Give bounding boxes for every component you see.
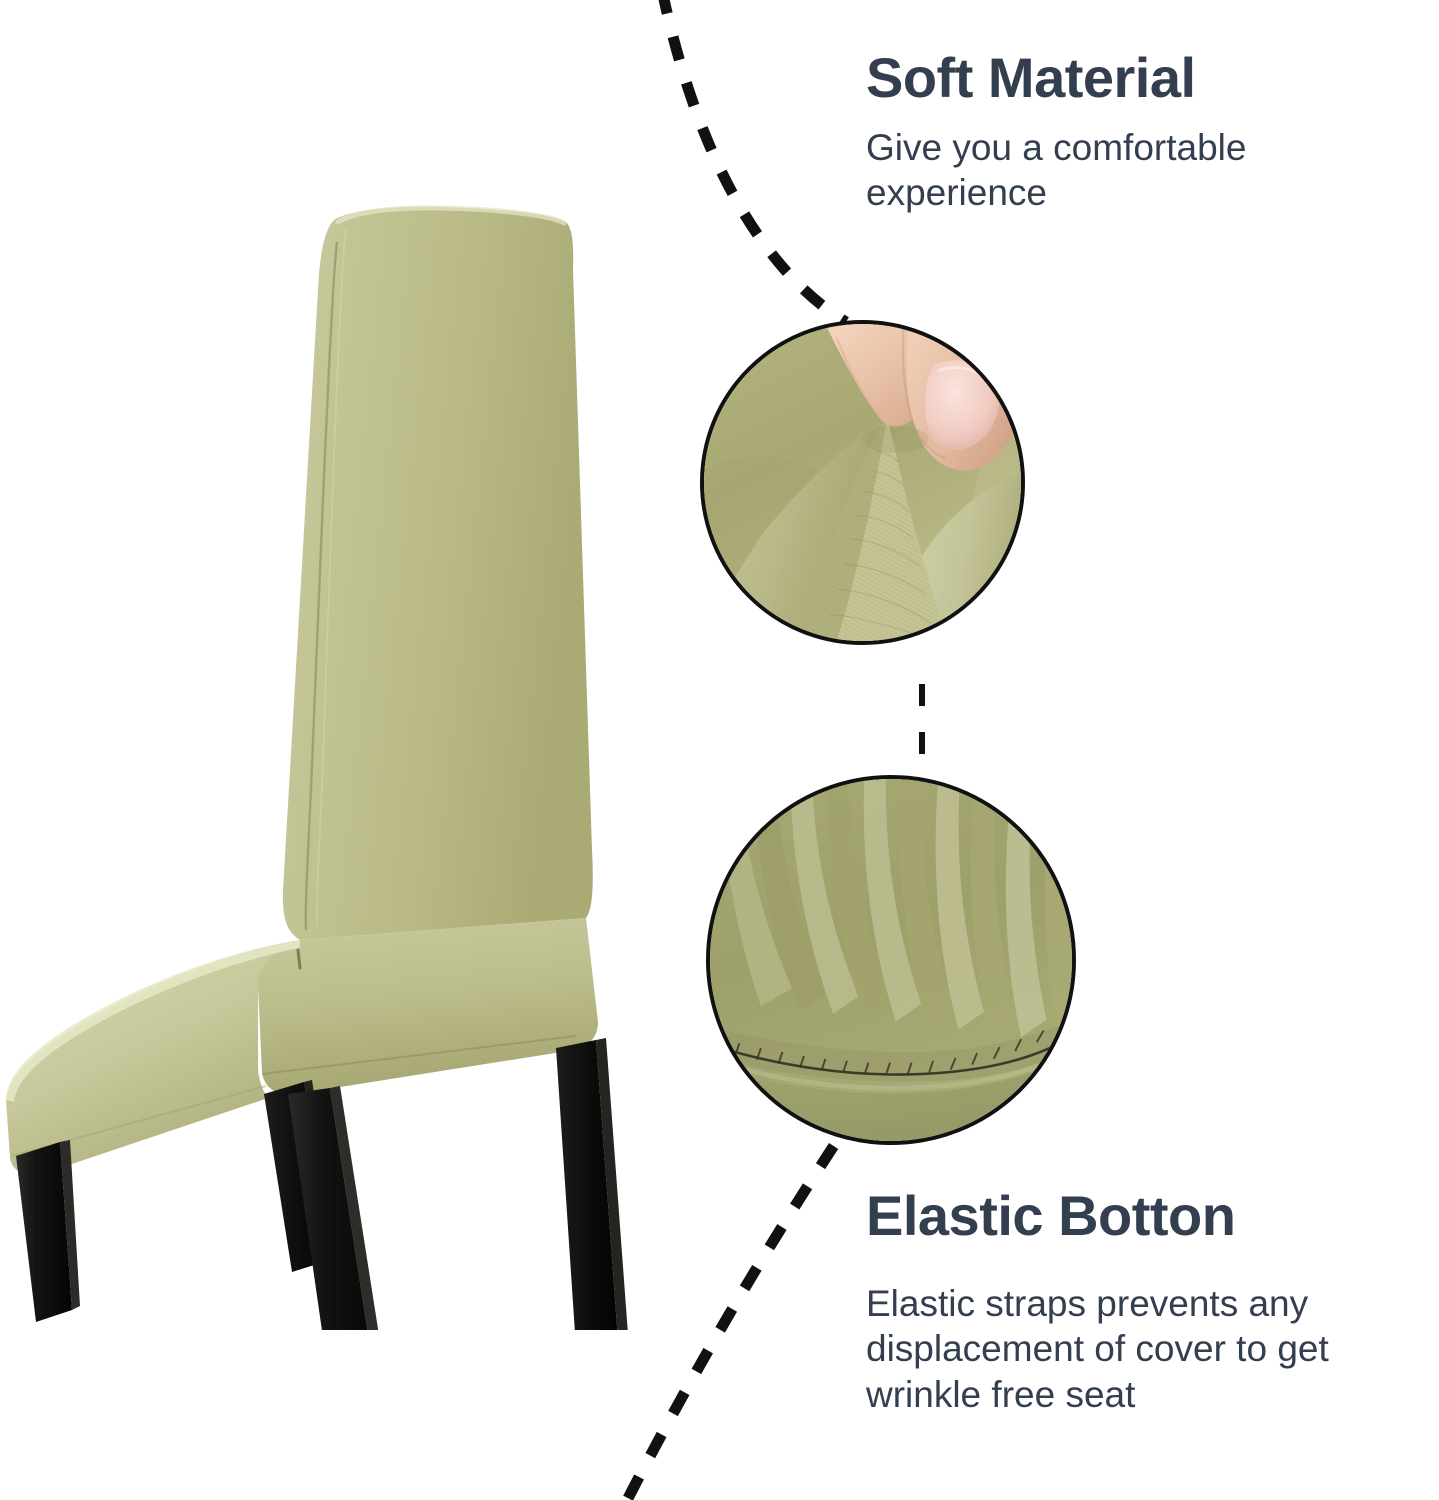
feature-title-soft-material: Soft Material [866,48,1426,107]
product-chair-image [0,150,680,1330]
feature-description-soft-material: Give you a comfortable experience [866,125,1426,215]
feature-description-elastic-bottom: Elastic straps prevents any displacement… [866,1281,1439,1416]
feature-title-elastic-bottom: Elastic Botton [866,1186,1439,1245]
feature-block-elastic-bottom: Elastic Botton Elastic straps prevents a… [866,1186,1439,1417]
divider-segment-upper [662,0,846,322]
infographic-canvas: Soft Material Give you a comfortable exp… [0,0,1439,1500]
chair-stitch-mark [298,950,300,968]
chair-seat-surface [6,940,300,1174]
feature-block-soft-material: Soft Material Give you a comfortable exp… [866,48,1426,216]
chair-illustration [0,150,680,1330]
feature-text-column: Soft Material Give you a comfortable exp… [856,0,1439,1500]
